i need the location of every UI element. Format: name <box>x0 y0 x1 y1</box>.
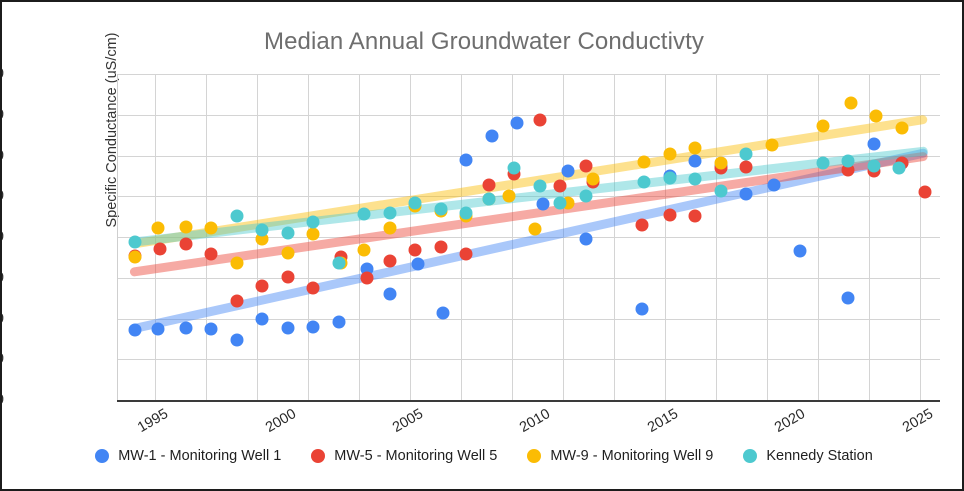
chart-container: Median Annual Groundwater Conductivty Sp… <box>0 0 964 491</box>
legend-swatch-mw9-icon <box>527 449 541 463</box>
data-point-mw9[interactable] <box>383 221 396 234</box>
data-point-mw1[interactable] <box>179 322 192 335</box>
data-point-mw1[interactable] <box>128 323 141 336</box>
data-point-mw5[interactable] <box>689 209 702 222</box>
data-point-kennedy[interactable] <box>554 196 567 209</box>
legend-swatch-kennedy-icon <box>743 449 757 463</box>
gridline-vertical <box>461 74 462 400</box>
data-point-mw5[interactable] <box>256 280 269 293</box>
data-point-mw1[interactable] <box>740 188 753 201</box>
data-point-kennedy[interactable] <box>358 208 371 221</box>
legend-label: Kennedy Station <box>766 448 872 464</box>
data-point-mw9[interactable] <box>307 227 320 240</box>
data-point-mw5[interactable] <box>740 160 753 173</box>
data-point-mw9[interactable] <box>230 257 243 270</box>
data-point-mw9[interactable] <box>816 119 829 132</box>
data-point-mw1[interactable] <box>511 116 524 129</box>
data-point-kennedy[interactable] <box>307 216 320 229</box>
x-tick-label: 1995 <box>122 406 172 444</box>
data-point-mw5[interactable] <box>360 271 373 284</box>
data-point-kennedy[interactable] <box>383 206 396 219</box>
data-point-mw5[interactable] <box>579 160 592 173</box>
data-point-mw5[interactable] <box>230 294 243 307</box>
data-point-mw1[interactable] <box>793 245 806 258</box>
data-point-kennedy[interactable] <box>663 171 676 184</box>
data-point-mw1[interactable] <box>256 312 269 325</box>
data-point-mw5[interactable] <box>409 244 422 257</box>
data-point-mw9[interactable] <box>587 172 600 185</box>
data-point-mw1[interactable] <box>689 154 702 167</box>
gridline-horizontal <box>117 74 940 75</box>
gridline-horizontal <box>117 359 940 360</box>
data-point-mw5[interactable] <box>154 243 167 256</box>
y-tick-label: 1000 <box>0 188 4 204</box>
data-point-kennedy[interactable] <box>508 161 521 174</box>
data-point-kennedy[interactable] <box>434 203 447 216</box>
data-point-kennedy[interactable] <box>256 224 269 237</box>
data-point-mw9[interactable] <box>714 156 727 169</box>
legend-label: MW-9 - Monitoring Well 9 <box>550 448 713 464</box>
data-point-mw9[interactable] <box>528 223 541 236</box>
data-point-mw1[interactable] <box>151 322 164 335</box>
data-point-mw5[interactable] <box>533 113 546 126</box>
data-point-mw1[interactable] <box>411 257 424 270</box>
y-tick-label: 1600 <box>0 66 4 82</box>
data-point-kennedy[interactable] <box>842 154 855 167</box>
y-tick-label: 600 <box>0 270 4 286</box>
plot-area <box>117 74 940 400</box>
data-point-mw1[interactable] <box>536 198 549 211</box>
gridline-horizontal <box>117 278 940 279</box>
data-point-kennedy[interactable] <box>579 190 592 203</box>
gridline-horizontal <box>117 400 940 402</box>
data-point-kennedy[interactable] <box>867 159 880 172</box>
data-point-mw9[interactable] <box>689 141 702 154</box>
x-tick-label: 2020 <box>759 406 809 444</box>
gridline-vertical <box>716 74 717 400</box>
data-point-mw1[interactable] <box>332 315 345 328</box>
data-point-mw5[interactable] <box>918 185 931 198</box>
data-point-mw1[interactable] <box>867 138 880 151</box>
x-tick-label: 2025 <box>886 406 936 444</box>
legend-label: MW-5 - Monitoring Well 5 <box>334 448 497 464</box>
data-point-mw5[interactable] <box>460 247 473 260</box>
data-point-kennedy[interactable] <box>483 193 496 206</box>
chart-legend: MW-1 - Monitoring Well 1MW-5 - Monitorin… <box>2 448 964 464</box>
data-point-mw1[interactable] <box>842 292 855 305</box>
y-tick-label: 800 <box>0 229 4 245</box>
legend-item-kennedy[interactable]: Kennedy Station <box>743 448 872 464</box>
data-point-kennedy[interactable] <box>332 257 345 270</box>
data-point-kennedy[interactable] <box>460 206 473 219</box>
data-point-kennedy[interactable] <box>533 180 546 193</box>
trend-line-mw5 <box>129 151 928 276</box>
data-point-mw5[interactable] <box>383 255 396 268</box>
data-point-mw9[interactable] <box>151 221 164 234</box>
data-point-mw1[interactable] <box>281 321 294 334</box>
x-tick-label: 2010 <box>504 406 554 444</box>
legend-item-mw9[interactable]: MW-9 - Monitoring Well 9 <box>527 448 713 464</box>
data-point-mw5[interactable] <box>179 237 192 250</box>
data-point-kennedy[interactable] <box>816 157 829 170</box>
x-tick-label: 2000 <box>249 406 299 444</box>
legend-swatch-mw5-icon <box>311 449 325 463</box>
y-tick-label: 0 <box>0 392 4 408</box>
data-point-mw1[interactable] <box>460 153 473 166</box>
y-tick-label: 400 <box>0 311 4 327</box>
data-point-mw1[interactable] <box>561 164 574 177</box>
data-point-mw9[interactable] <box>638 156 651 169</box>
data-point-mw1[interactable] <box>768 179 781 192</box>
gridline-horizontal <box>117 156 940 157</box>
gridline-vertical <box>665 74 666 400</box>
data-point-mw9[interactable] <box>179 221 192 234</box>
x-tick-label: 2005 <box>376 406 426 444</box>
data-point-mw1[interactable] <box>579 233 592 246</box>
legend-swatch-mw1-icon <box>95 449 109 463</box>
data-point-kennedy[interactable] <box>281 227 294 240</box>
data-point-mw9[interactable] <box>870 110 883 123</box>
data-point-kennedy[interactable] <box>740 147 753 160</box>
gridline-horizontal <box>117 319 940 320</box>
data-point-kennedy[interactable] <box>409 196 422 209</box>
data-point-mw5[interactable] <box>483 179 496 192</box>
data-point-mw9[interactable] <box>358 244 371 257</box>
data-point-mw9[interactable] <box>503 190 516 203</box>
gridline-vertical <box>614 74 615 400</box>
data-point-mw5[interactable] <box>205 247 218 260</box>
gridline-vertical <box>410 74 411 400</box>
legend-item-mw5[interactable]: MW-5 - Monitoring Well 5 <box>311 448 497 464</box>
gridline-horizontal <box>117 115 940 116</box>
data-point-mw5[interactable] <box>663 208 676 221</box>
data-point-mw5[interactable] <box>307 281 320 294</box>
data-point-mw5[interactable] <box>635 219 648 232</box>
legend-item-mw1[interactable]: MW-1 - Monitoring Well 1 <box>95 448 281 464</box>
x-tick-label: 2015 <box>631 406 681 444</box>
data-point-mw1[interactable] <box>383 288 396 301</box>
data-point-kennedy[interactable] <box>638 175 651 188</box>
data-point-mw9[interactable] <box>663 148 676 161</box>
data-point-mw5[interactable] <box>434 240 447 253</box>
data-point-kennedy[interactable] <box>714 185 727 198</box>
y-tick-label: 200 <box>0 351 4 367</box>
chart-title: Median Annual Groundwater Conductivty <box>2 28 964 56</box>
data-point-mw1[interactable] <box>635 303 648 316</box>
data-point-mw1[interactable] <box>230 333 243 346</box>
data-point-mw9[interactable] <box>128 251 141 264</box>
y-tick-label: 1200 <box>0 148 4 164</box>
data-point-mw9[interactable] <box>205 222 218 235</box>
y-tick-label: 1400 <box>0 107 4 123</box>
data-point-kennedy[interactable] <box>689 172 702 185</box>
data-point-mw9[interactable] <box>281 246 294 259</box>
data-point-mw9[interactable] <box>765 138 778 151</box>
gridline-vertical <box>767 74 768 400</box>
data-point-kennedy[interactable] <box>893 162 906 175</box>
data-point-mw9[interactable] <box>844 96 857 109</box>
data-point-mw5[interactable] <box>281 270 294 283</box>
data-point-kennedy[interactable] <box>230 209 243 222</box>
data-point-mw9[interactable] <box>895 121 908 134</box>
data-point-mw1[interactable] <box>307 321 320 334</box>
axis-line-left <box>117 74 118 400</box>
data-point-mw1[interactable] <box>437 307 450 320</box>
data-point-mw5[interactable] <box>554 179 567 192</box>
legend-label: MW-1 - Monitoring Well 1 <box>118 448 281 464</box>
data-point-mw1[interactable] <box>205 322 218 335</box>
data-point-kennedy[interactable] <box>128 236 141 249</box>
data-point-mw1[interactable] <box>485 130 498 143</box>
